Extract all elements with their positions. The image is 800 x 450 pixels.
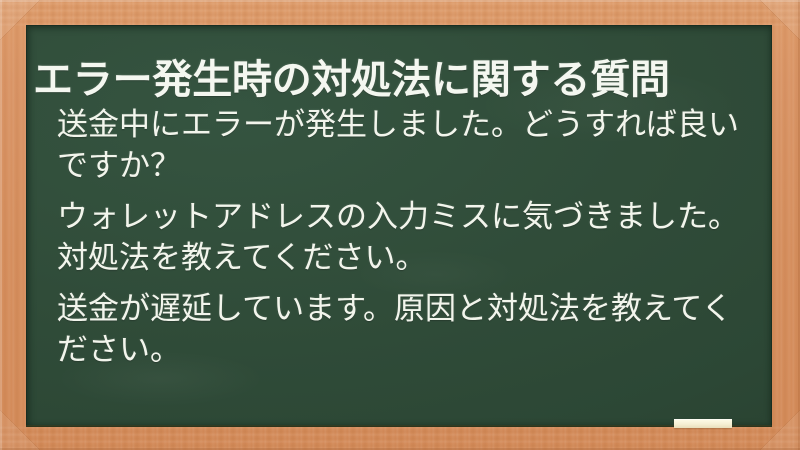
list-item: 送金が遅延しています。原因と対処法を教えてください。 — [57, 289, 757, 371]
chalkboard-surface: エラー発生時の対処法に関する質問 送金中にエラーが発生しました。どうすれば良いで… — [26, 25, 772, 427]
page-title: エラー発生時の対処法に関する質問 — [33, 56, 763, 104]
list-item: ウォレットアドレスの入力ミスに気づきました。対処法を教えてください。 — [57, 197, 757, 279]
question-list: 送金中にエラーが発生しました。どうすれば良いですか？ ウォレットアドレスの入力ミ… — [57, 105, 757, 371]
wood-grain-top-rail — [0, 0, 800, 26]
chalkboard-slide: エラー発生時の対処法に関する質問 送金中にエラーが発生しました。どうすれば良いで… — [0, 0, 800, 450]
board-content: エラー発生時の対処法に関する質問 送金中にエラーが発生しました。どうすれば良いで… — [26, 25, 772, 427]
list-item: 送金中にエラーが発生しました。どうすれば良いですか？ — [57, 105, 757, 187]
wood-grain-bottom-rail — [0, 426, 800, 450]
chalk-stick-icon — [674, 419, 732, 428]
board-bottom-shadow — [26, 425, 772, 427]
